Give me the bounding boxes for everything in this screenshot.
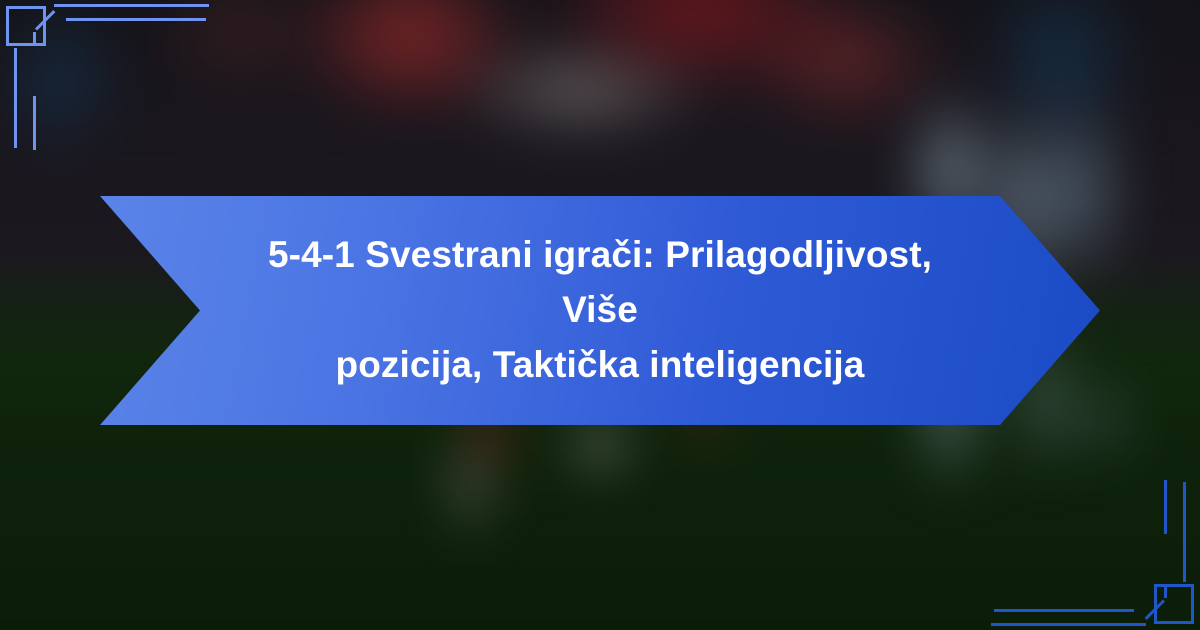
- headline-banner: 5-4-1 Svestrani igrači: Prilagodljivost,…: [100, 196, 1100, 425]
- og-card: 5-4-1 Svestrani igrači: Prilagodljivost,…: [0, 0, 1200, 630]
- page-title: 5-4-1 Svestrani igrači: Prilagodljivost,…: [240, 228, 960, 392]
